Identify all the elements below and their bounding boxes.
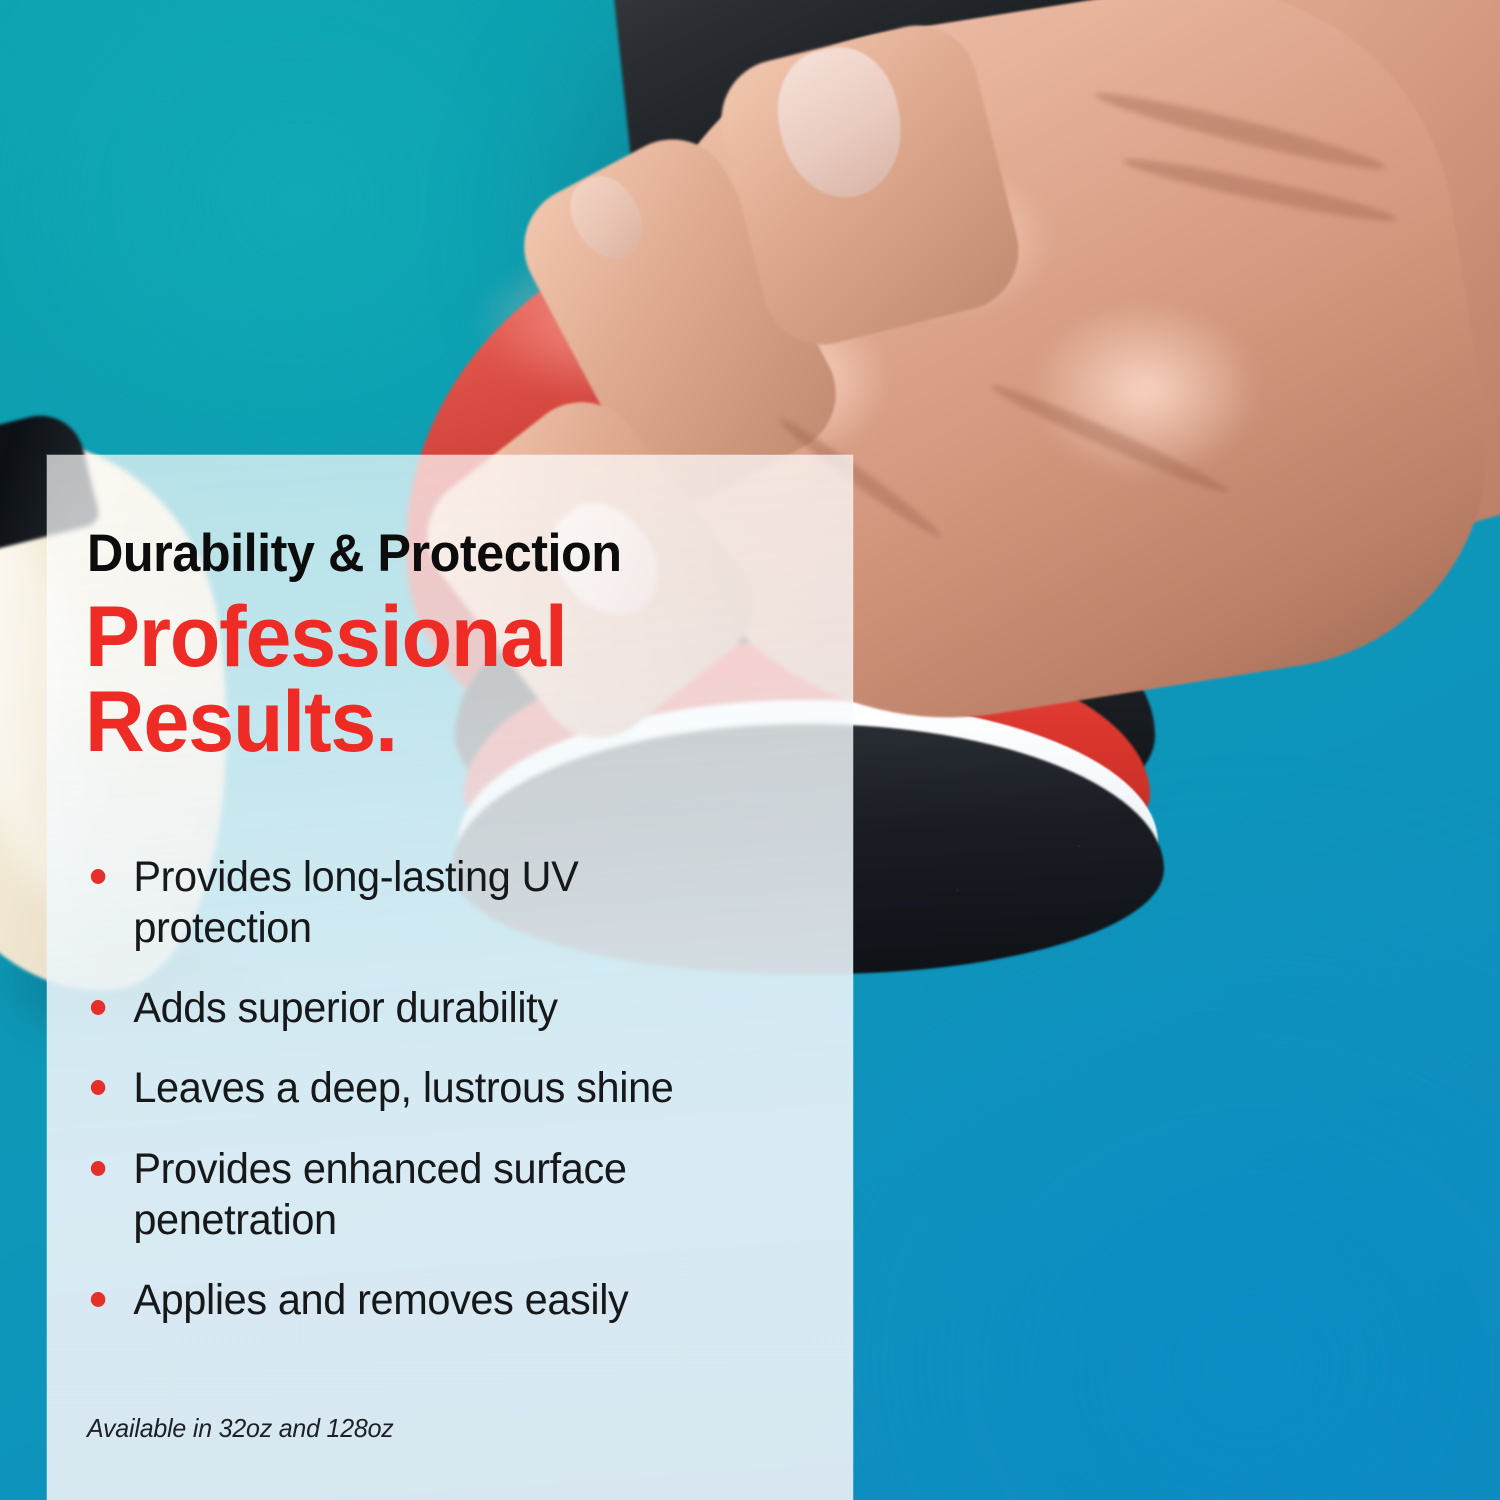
bullet-dot-icon (91, 1080, 105, 1095)
eyebrow-heading: Durability & Protection (87, 527, 622, 580)
list-item-label: Leaves a deep, lustrous shine (133, 1064, 673, 1112)
list-item: Leaves a deep, lustrous shine (87, 1063, 763, 1114)
headline: Professional Results. (85, 595, 567, 765)
list-item-label: Applies and removes easily (133, 1276, 628, 1324)
list-item: Adds superior durability (87, 983, 763, 1034)
list-item: Provides enhanced surface penetration (87, 1144, 763, 1246)
availability-note: Available in 32oz and 128oz (87, 1413, 394, 1444)
bullet-dot-icon (91, 869, 105, 884)
list-item-label: Adds superior durability (133, 984, 557, 1032)
list-item-label: Provides long-lasting UV protection (133, 853, 578, 952)
list-item: Applies and removes easily (87, 1275, 763, 1326)
bullet-dot-icon (91, 1000, 105, 1015)
bullet-dot-icon (91, 1292, 105, 1307)
bullet-dot-icon (91, 1161, 105, 1176)
headline-line-1: Professional (85, 595, 567, 680)
list-item-label: Provides enhanced surface penetration (133, 1145, 626, 1244)
feature-list: Provides long-lasting UV protection Adds… (87, 852, 787, 1326)
headline-line-2: Results. (85, 680, 567, 765)
list-item: Provides long-lasting UV protection (87, 852, 763, 954)
content-panel: Durability & Protection Professional Res… (47, 455, 853, 1500)
product-marketing-image: Durability & Protection Professional Res… (0, 0, 1500, 1500)
